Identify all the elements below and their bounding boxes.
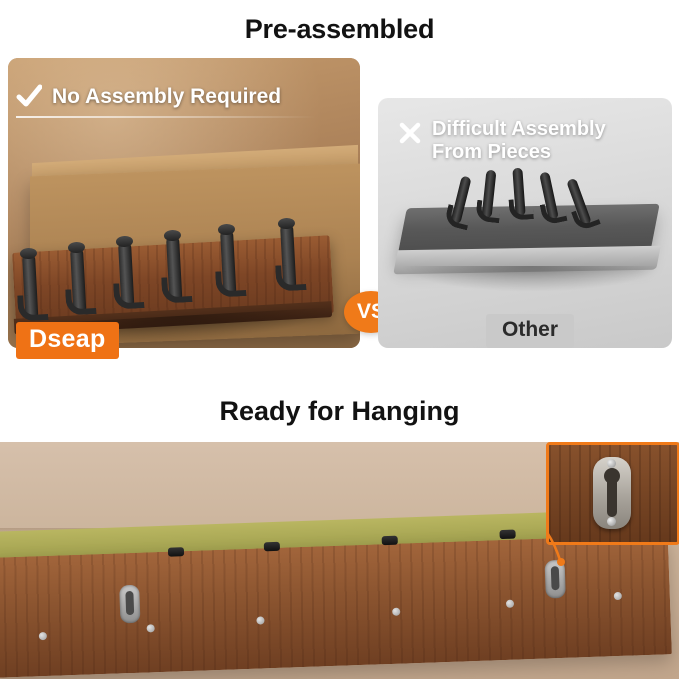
hook-base	[168, 547, 184, 557]
no-assembly-label: No Assembly Required	[52, 85, 281, 109]
closeup-screw-head	[607, 517, 616, 526]
screw-head	[256, 616, 264, 624]
rack-back-wood	[0, 534, 672, 678]
loose-hook	[539, 171, 559, 220]
x-icon	[398, 121, 422, 145]
screw-head	[614, 592, 622, 600]
page-title-top: Pre-assembled	[0, 14, 679, 45]
product-infographic: Pre-assembled No Assembly Required Dseap…	[0, 0, 679, 679]
loose-hook	[450, 176, 471, 225]
keyhole-mount-closeup	[546, 442, 679, 545]
screw-head	[39, 632, 47, 640]
difficult-assembly-line1: Difficult Assembly	[432, 118, 606, 140]
check-icon	[16, 84, 42, 110]
loose-hook	[512, 168, 525, 217]
screw-head	[392, 608, 400, 616]
disassembled-rack-shadow	[400, 266, 660, 292]
closeup-keyhole-slot	[607, 471, 617, 517]
callout-underline	[16, 116, 316, 118]
other-badge: Other	[486, 314, 574, 348]
closeup-keyhole-plate	[593, 457, 631, 529]
screw-head	[506, 600, 514, 608]
difficult-assembly-callout: Difficult Assembly From Pieces	[398, 118, 606, 164]
hook-base	[264, 542, 280, 552]
closeup-screw-head	[607, 459, 616, 468]
hook-base	[382, 536, 398, 546]
difficult-assembly-label: Difficult Assembly From Pieces	[432, 118, 606, 164]
loose-hook	[482, 170, 497, 219]
screw-head	[147, 624, 155, 632]
no-assembly-callout: No Assembly Required	[16, 84, 281, 110]
page-title-bottom: Ready for Hanging	[0, 396, 679, 427]
keyhole-mount-plate	[119, 585, 140, 624]
difficult-assembly-line2: From Pieces	[432, 141, 551, 163]
brand-badge-dseap: Dseap	[16, 322, 119, 359]
hook-base	[499, 530, 515, 540]
keyhole-mount-plate	[545, 560, 566, 599]
